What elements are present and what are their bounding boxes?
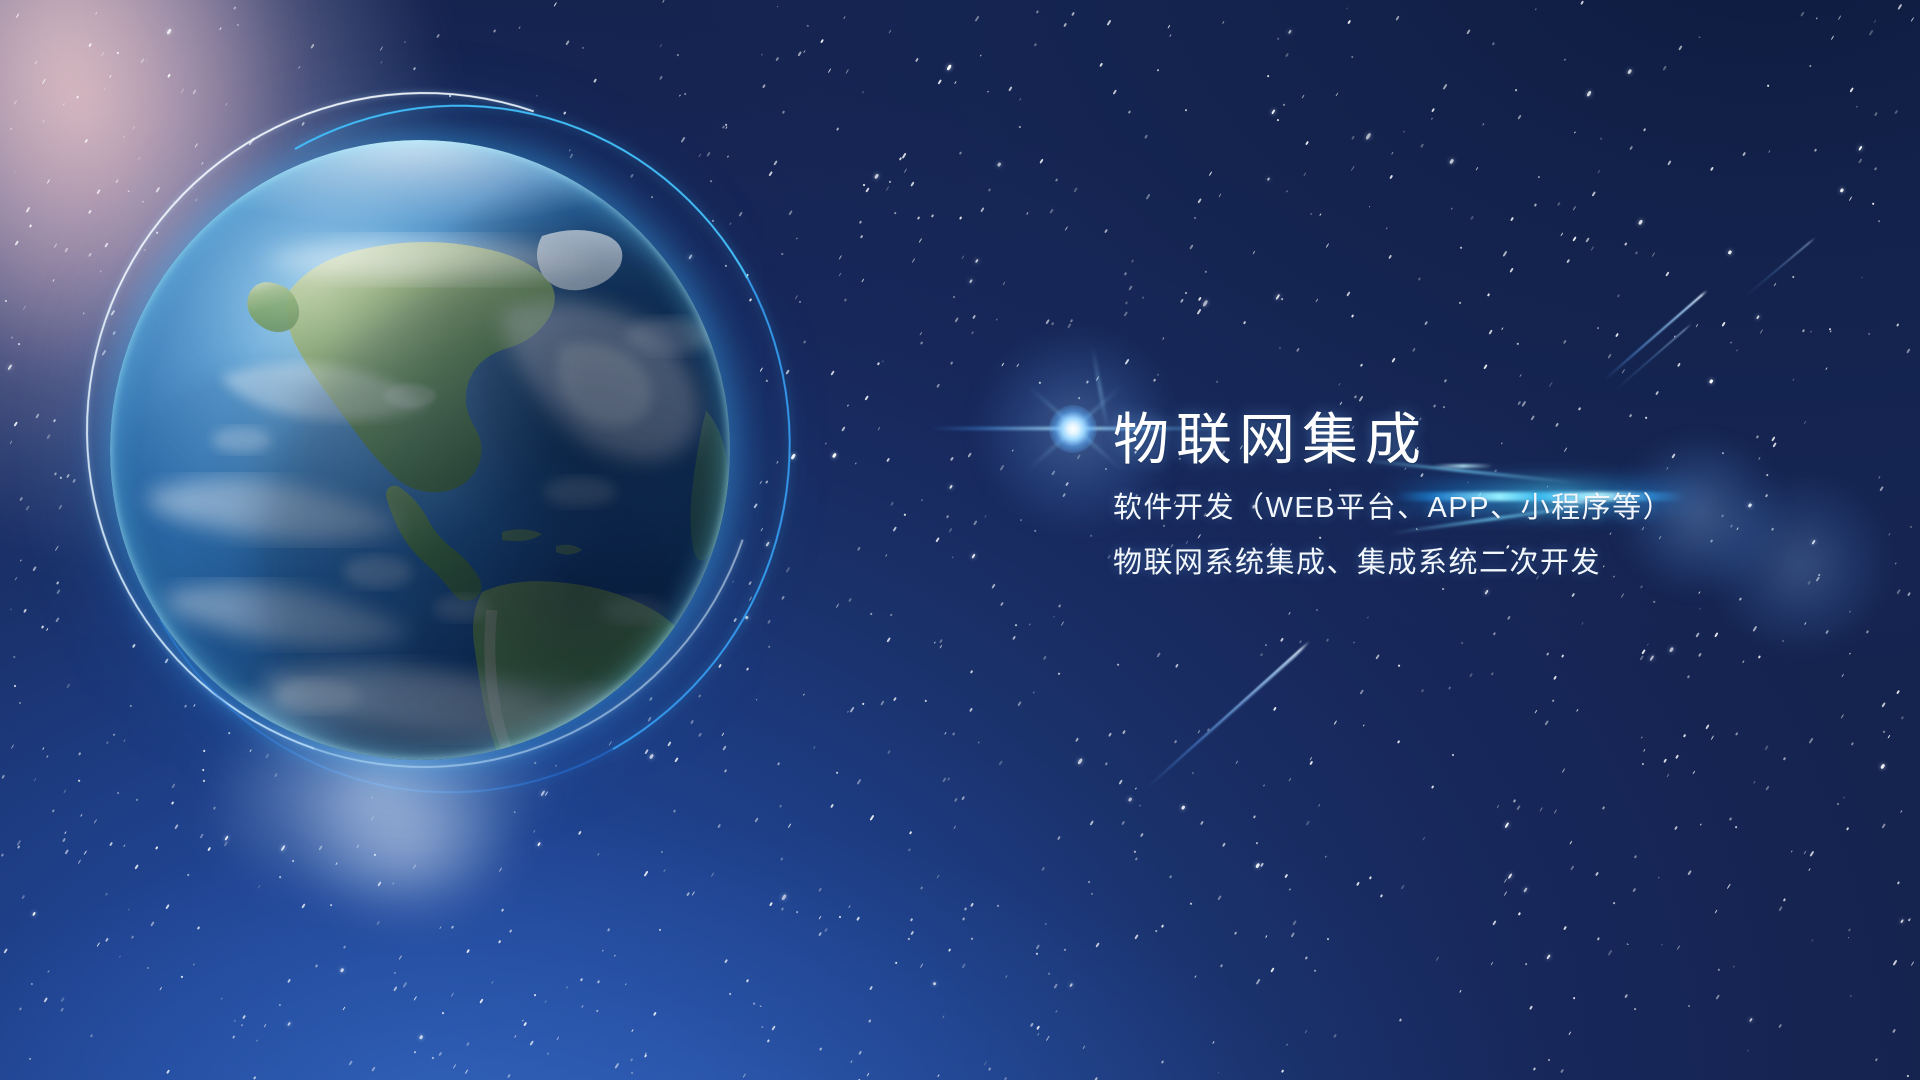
banner-stage: 物联网集成 软件开发（WEB平台、APP、小程序等） 物联网系统集成、集成系统二… [0,0,1920,1080]
globe-rim-light [110,140,730,760]
subtitle-line-1: 软件开发（WEB平台、APP、小程序等） [1113,494,1873,523]
blue-star-flare-icon [1049,405,1097,453]
earth-globe [110,140,730,760]
subtitle-line-2: 物联网系统集成、集成系统二次开发 [1113,549,1873,578]
banner-text-block: 物联网集成 软件开发（WEB平台、APP、小程序等） 物联网系统集成、集成系统二… [1113,412,1873,578]
page-title: 物联网集成 [1113,412,1873,468]
